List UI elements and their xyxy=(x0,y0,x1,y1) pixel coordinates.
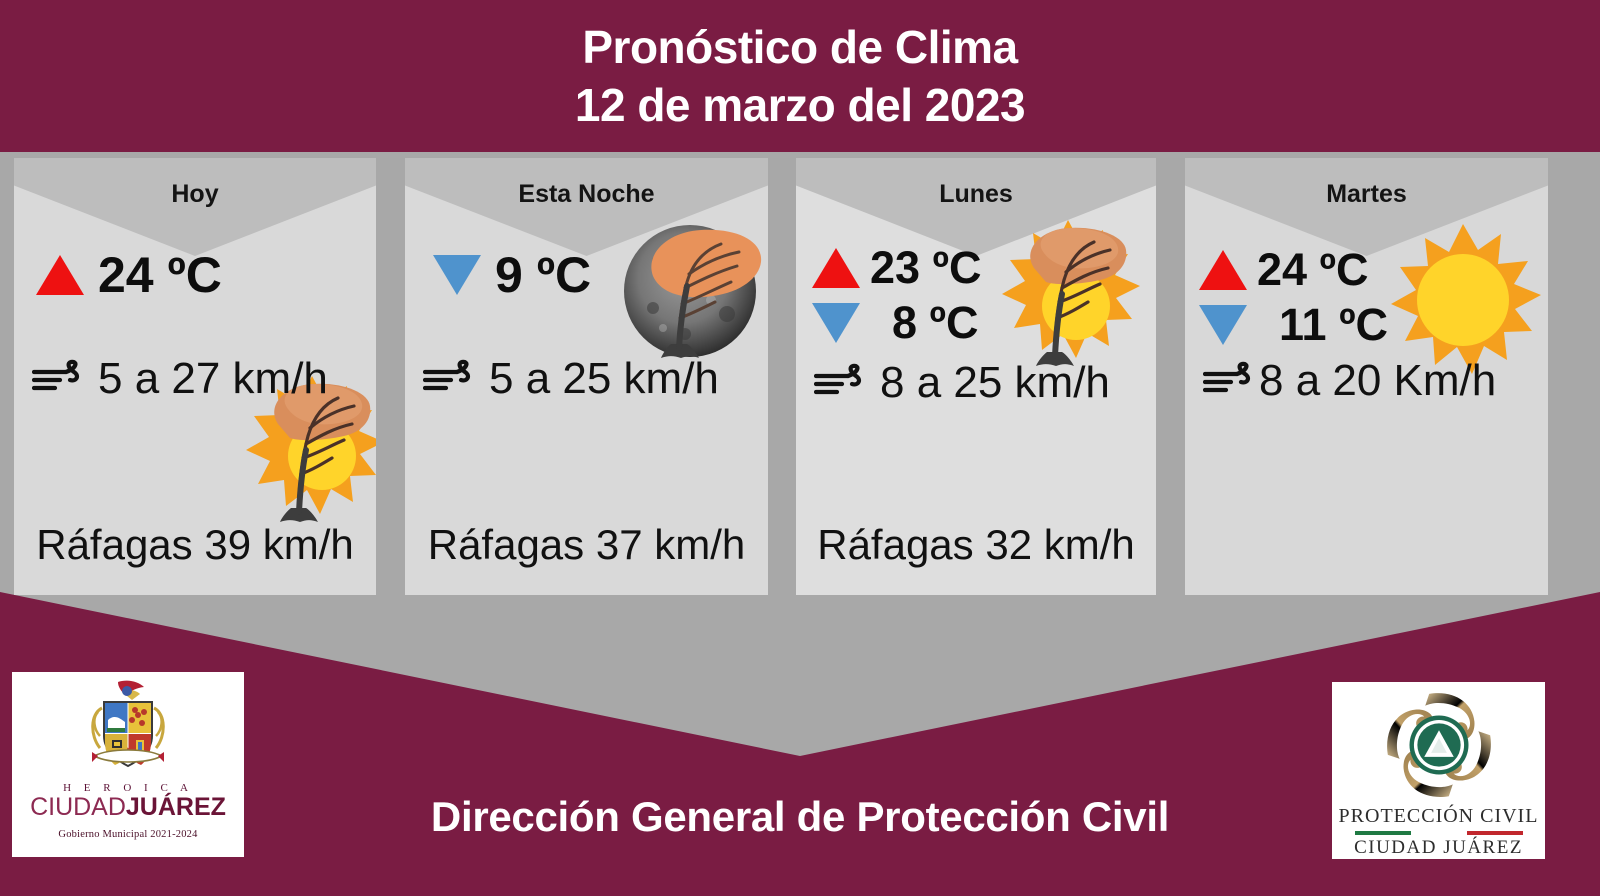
coat-of-arms-icon xyxy=(74,678,182,780)
moon-windy-tree-icon xyxy=(615,216,765,366)
high-temp-up-triangle-icon xyxy=(812,248,860,288)
high-temp-value: 24 ºC xyxy=(1257,244,1369,296)
proteccion-civil-title: PROTECCIÓN CIVIL xyxy=(1339,805,1539,828)
forecast-card-lunes[interactable]: Lunes 23 ºC 8 ºC xyxy=(796,158,1156,595)
gusts-text: Ráfagas 37 km/h xyxy=(405,521,768,569)
high-temp-value: 23 ºC xyxy=(870,242,982,294)
gusts-text: Ráfagas 39 km/h xyxy=(14,521,376,569)
proteccion-civil-logo: PROTECCIÓN CIVIL CIUDAD JUÁREZ xyxy=(1332,682,1545,859)
government-period-label: Gobierno Municipal 2021-2024 xyxy=(58,829,197,840)
wind-line: 8 a 25 km/h xyxy=(814,358,1110,408)
proteccion-civil-city: CIUDAD JUÁREZ xyxy=(1354,837,1523,859)
weather-forecast-poster: Pronóstico de Clima 12 de marzo del 2023… xyxy=(0,0,1600,896)
heroica-ciudad-juarez-logo: H E R O I C A CIUDADJUÁREZ Gobierno Muni… xyxy=(12,672,244,857)
wind-line: 5 a 27 km/h xyxy=(32,354,328,404)
ciudad-text: CIUDAD xyxy=(30,793,126,821)
temperature-block: 9 ºC xyxy=(433,244,591,306)
proteccion-civil-emblem-icon xyxy=(1378,688,1500,804)
juarez-text: JUÁREZ xyxy=(126,793,226,821)
wind-text: 5 a 27 km/h xyxy=(98,354,328,404)
forecast-card-esta-noche[interactable]: Esta Noche 9 ºC 5 a 25 km/h xyxy=(405,158,768,595)
forecast-cards-row: Hoy 24 ºC 5 a 27 km/h xyxy=(0,158,1600,598)
poster-header: Pronóstico de Clima 12 de marzo del 2023 xyxy=(0,0,1600,152)
wind-icon xyxy=(423,359,477,399)
temperature-block: 24 ºC xyxy=(36,244,222,306)
card-day-label: Hoy xyxy=(14,180,376,209)
forecast-card-hoy[interactable]: Hoy 24 ºC 5 a 27 km/h xyxy=(14,158,376,595)
page-title-line2: 12 de marzo del 2023 xyxy=(575,76,1025,134)
gusts-text: Ráfagas 32 km/h xyxy=(796,521,1156,569)
wind-line: 5 a 25 km/h xyxy=(423,354,719,404)
low-temp-value: 8 ºC xyxy=(870,297,978,349)
card-day-label: Lunes xyxy=(796,180,1156,209)
ciudad-juarez-wordmark: CIUDADJUÁREZ xyxy=(30,794,226,821)
wind-icon xyxy=(1203,361,1257,401)
low-temp-value: 11 ºC xyxy=(1257,299,1388,351)
high-temp-value: 24 ºC xyxy=(98,246,222,304)
wind-text: 5 a 25 km/h xyxy=(489,354,719,404)
card-day-label: Martes xyxy=(1185,180,1548,209)
forecast-card-martes[interactable]: Martes 24 ºC 11 ºC xyxy=(1185,158,1548,595)
wind-icon xyxy=(32,359,86,399)
wind-icon xyxy=(814,363,868,403)
wind-text: 8 a 25 km/h xyxy=(880,358,1110,408)
high-temp-up-triangle-icon xyxy=(1199,250,1247,290)
flag-bar-red xyxy=(1467,831,1523,835)
page-title-line1: Pronóstico de Clima xyxy=(582,18,1017,76)
sun-windy-tree-icon xyxy=(992,210,1144,376)
wind-text: 8 a 20 Km/h xyxy=(1259,356,1496,406)
temperature-block: 23 ºC 8 ºC xyxy=(812,240,982,350)
flag-bars xyxy=(1355,831,1523,835)
flag-bar-white xyxy=(1411,831,1467,835)
high-temp-up-triangle-icon xyxy=(36,255,84,295)
flag-bar-green xyxy=(1355,831,1411,835)
low-temp-down-triangle-icon xyxy=(433,255,481,295)
low-temp-value: 9 ºC xyxy=(495,246,591,304)
temperature-block: 24 ºC 11 ºC xyxy=(1199,242,1388,352)
low-temp-down-triangle-icon xyxy=(1199,305,1247,345)
wind-line: 8 a 20 Km/h xyxy=(1203,356,1496,406)
card-day-label: Esta Noche xyxy=(405,180,768,209)
low-temp-down-triangle-icon xyxy=(812,303,860,343)
